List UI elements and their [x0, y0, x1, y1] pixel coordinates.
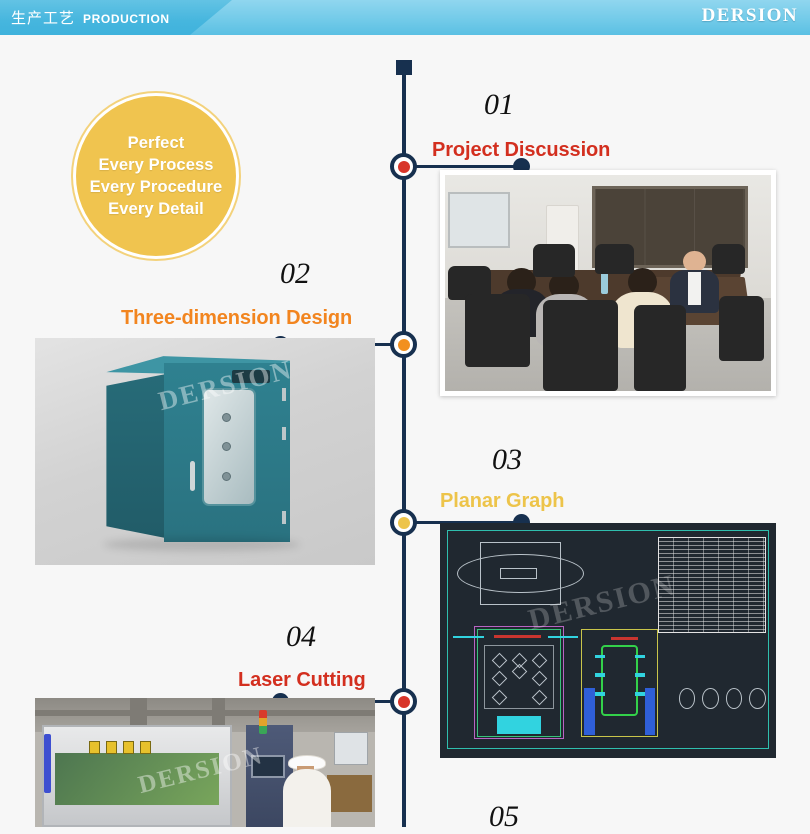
step-number-01: 01: [484, 88, 514, 122]
timeline-marker-04[interactable]: [390, 688, 417, 715]
timeline-marker-03[interactable]: [390, 509, 417, 536]
slogan-line-1: Perfect: [128, 134, 185, 153]
slogan-line-2: Every Process: [98, 156, 213, 175]
cad-drawing-image: DERSION: [440, 523, 776, 758]
timeline-marker-01[interactable]: [390, 153, 417, 180]
connector-01: [414, 165, 524, 168]
step-number-02: 02: [280, 257, 310, 291]
header-title-english: PRODUCTION: [75, 10, 170, 26]
step-title-03: Planar Graph: [440, 490, 564, 513]
step-number-04: 04: [286, 620, 316, 654]
laser-cutting-photo: DERSION: [35, 698, 375, 827]
step-title-04: Laser Cutting: [238, 669, 366, 692]
step-title-02: Three-dimension Design: [121, 307, 352, 330]
slogan-badge: Perfect Every Process Every Procedure Ev…: [76, 96, 236, 256]
meeting-room-photo: [440, 170, 776, 396]
page-header: 生产工艺 PRODUCTION DERSION: [0, 0, 810, 35]
step-number-05: 05: [489, 800, 519, 834]
timeline-marker-02[interactable]: [390, 331, 417, 358]
slogan-line-4: Every Detail: [108, 200, 204, 219]
3d-render-image: DERSION: [35, 338, 375, 565]
header-title-chinese: 生产工艺: [0, 7, 75, 28]
step-number-03: 03: [492, 443, 522, 477]
slogan-line-3: Every Procedure: [90, 178, 223, 197]
brand-logo: DERSION: [702, 5, 798, 27]
header-title-band: 生产工艺 PRODUCTION: [0, 0, 232, 35]
